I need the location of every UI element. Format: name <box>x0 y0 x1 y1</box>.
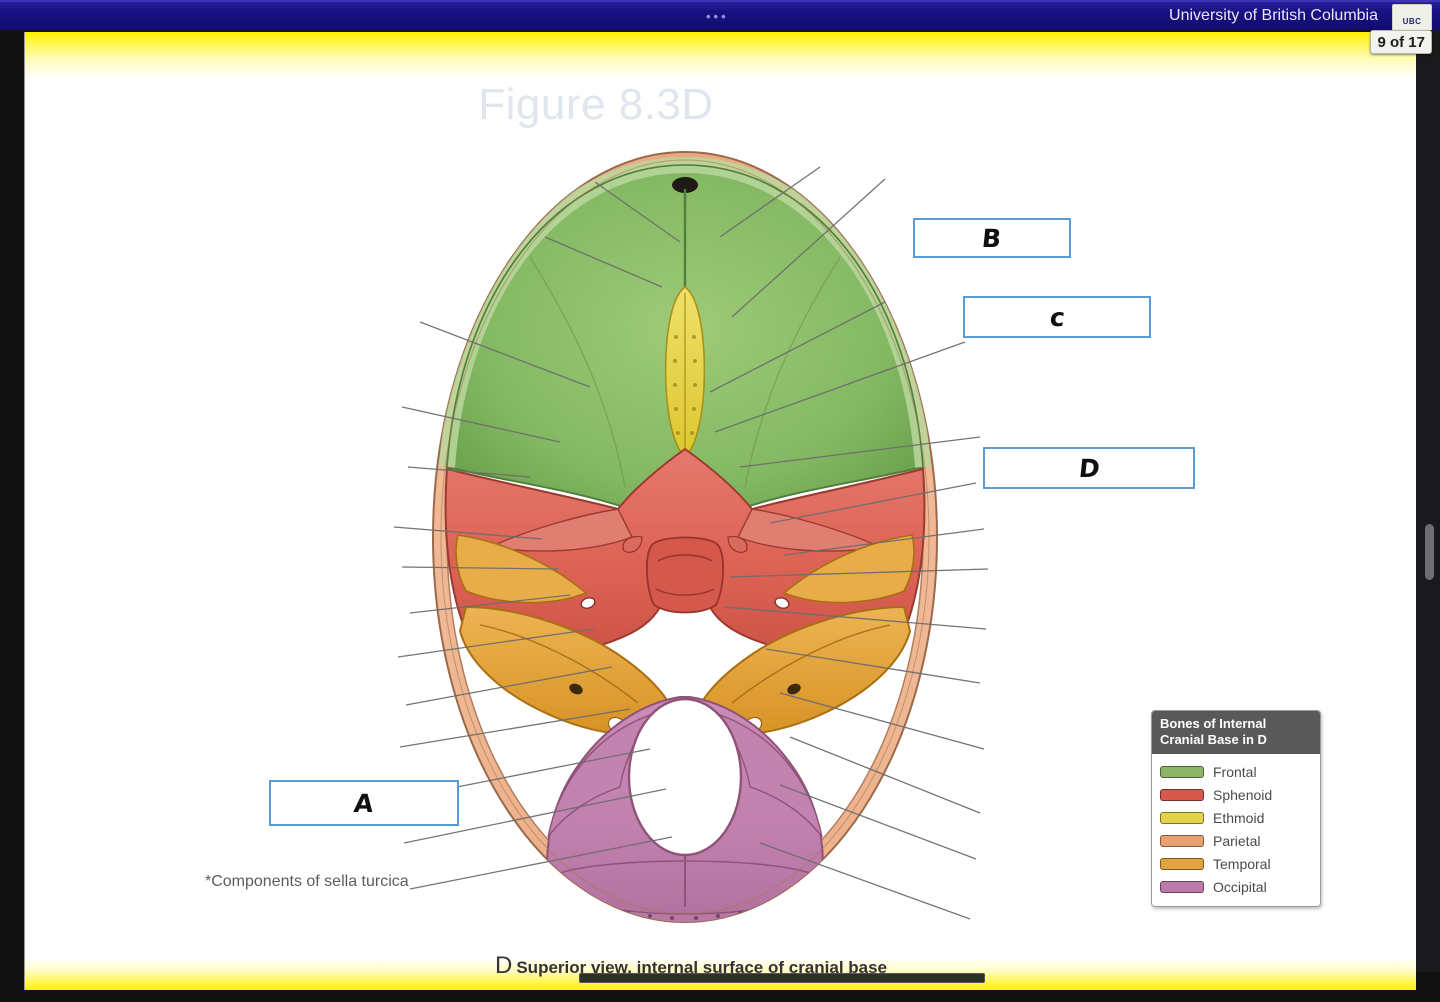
legend-item-frontal: Frontal <box>1160 760 1314 783</box>
legend-swatch-frontal <box>1160 766 1204 778</box>
legend-item-sphenoid: Sphenoid <box>1160 783 1314 806</box>
answer-box-b[interactable]: B <box>913 218 1071 258</box>
legend-title-line2: Cranial Base in D <box>1160 732 1314 748</box>
window-titlebar: ••• University of British Columbia UBC <box>0 0 1440 30</box>
legend-label-ethmoid: Ethmoid <box>1213 810 1264 826</box>
legend-swatch-temporal <box>1160 858 1204 870</box>
answer-box-b-value: B <box>981 224 1003 253</box>
vertical-scrollbar-thumb[interactable] <box>1425 524 1434 580</box>
legend-item-ethmoid: Ethmoid <box>1160 806 1314 829</box>
window-bottom-edge <box>0 990 1440 1002</box>
legend-item-occipital: Occipital <box>1160 875 1314 898</box>
legend-label-occipital: Occipital <box>1213 879 1267 895</box>
window-title: University of British Columbia <box>1169 7 1378 25</box>
answer-box-d[interactable]: D <box>983 447 1195 489</box>
ubc-logo-text: UBC <box>1403 18 1422 26</box>
cranial-base-illustration <box>380 137 990 927</box>
sella-turcica-footnote: *Components of sella turcica <box>205 873 409 891</box>
overflow-menu-icon[interactable]: ••• <box>706 12 729 22</box>
bone-color-legend: Bones of Internal Cranial Base in D Fron… <box>1151 710 1321 907</box>
legend-swatch-sphenoid <box>1160 789 1204 801</box>
legend-title: Bones of Internal Cranial Base in D <box>1152 711 1320 754</box>
legend-label-sphenoid: Sphenoid <box>1213 787 1272 803</box>
legend-swatch-parietal <box>1160 835 1204 847</box>
legend-item-temporal: Temporal <box>1160 852 1314 875</box>
legend-label-frontal: Frontal <box>1213 764 1257 780</box>
legend-items: Frontal Sphenoid Ethmoid Parietal Tempor… <box>1152 754 1320 906</box>
horizontal-scrollbar-track[interactable] <box>49 964 1416 990</box>
answer-box-c[interactable]: c <box>963 296 1151 338</box>
legend-item-parietal: Parietal <box>1160 829 1314 852</box>
slide-canvas: Figure 8.3D <box>24 32 1416 990</box>
horizontal-scrollbar-thumb[interactable] <box>579 973 985 983</box>
vertical-scrollbar-track[interactable] <box>1416 30 1440 972</box>
answer-box-a-value: A <box>353 789 375 818</box>
legend-title-line1: Bones of Internal <box>1160 716 1314 732</box>
legend-label-parietal: Parietal <box>1213 833 1260 849</box>
page-indicator: 9 of 17 <box>1370 30 1432 54</box>
app-window: ••• University of British Columbia UBC 9… <box>0 0 1440 1002</box>
answer-box-c-value: c <box>1048 303 1066 332</box>
ubc-logo-icon: UBC <box>1392 4 1432 30</box>
figure-title: Figure 8.3D <box>25 80 1416 130</box>
legend-label-temporal: Temporal <box>1213 856 1271 872</box>
slide-top-accent-band <box>25 32 1416 78</box>
answer-box-d-value: D <box>1077 454 1101 483</box>
legend-swatch-ethmoid <box>1160 812 1204 824</box>
legend-swatch-occipital <box>1160 881 1204 893</box>
answer-box-a[interactable]: A <box>269 780 459 826</box>
